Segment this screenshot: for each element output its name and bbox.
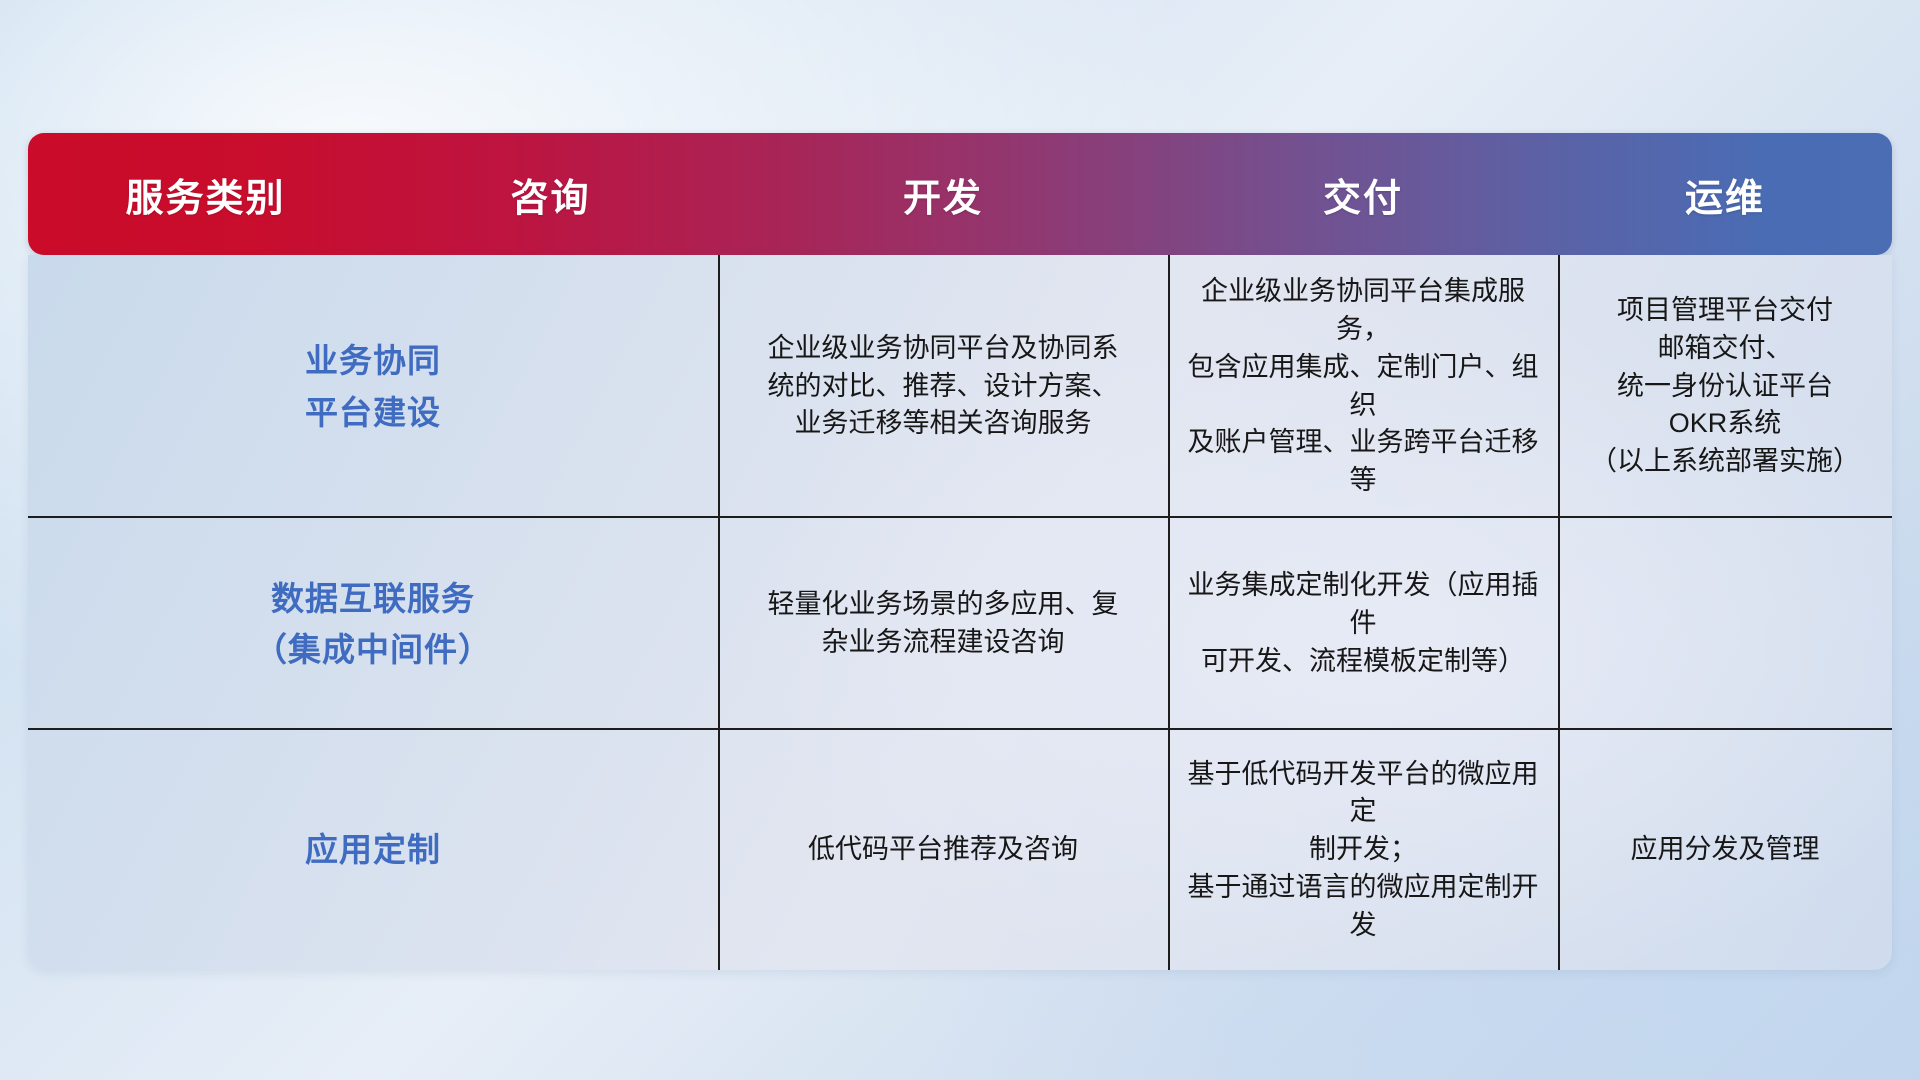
cell-delivery: 项目管理平台交付 邮箱交付、 统一身份认证平台 OKR系统 （以上系统部署实施）	[1558, 255, 1892, 518]
table-row: 业务协同 平台建设 企业级业务协同平台及协同系 统的对比、推荐、设计方案、 业务…	[28, 255, 1892, 518]
cell-development: 企业级业务协同平台集成服务， 包含应用集成、定制门户、组织 及账户管理、业务跨平…	[1168, 255, 1558, 518]
column-header-operations: 运维	[1558, 133, 1892, 255]
cell-category: 业务协同 平台建设	[28, 255, 718, 518]
column-header-consulting: 咨询	[383, 133, 718, 255]
column-header-delivery: 交付	[1168, 133, 1558, 255]
cell-development: 业务集成定制化开发（应用插件 可开发、流程模板定制等）	[1168, 518, 1558, 730]
table-body: 业务协同 平台建设 企业级业务协同平台及协同系 统的对比、推荐、设计方案、 业务…	[28, 255, 1892, 970]
table-row: 应用定制 低代码平台推荐及咨询 基于低代码开发平台的微应用定 制开发； 基于通过…	[28, 730, 1892, 970]
cell-consulting: 轻量化业务场景的多应用、复 杂业务流程建设咨询	[718, 518, 1168, 730]
column-header-development: 开发	[718, 133, 1168, 255]
table-header-row: 服务类别 咨询 开发 交付 运维	[28, 133, 1892, 255]
cell-consulting: 低代码平台推荐及咨询	[718, 730, 1168, 970]
service-category-table: 服务类别 咨询 开发 交付 运维 业务协同 平台建设 企业级业务协同平台及协同系…	[28, 133, 1892, 970]
slide-canvas: 服务类别 咨询 开发 交付 运维 业务协同 平台建设 企业级业务协同平台及协同系…	[0, 0, 1920, 1080]
cell-delivery: 应用分发及管理	[1558, 730, 1892, 970]
cell-consulting: 企业级业务协同平台及协同系 统的对比、推荐、设计方案、 业务迁移等相关咨询服务	[718, 255, 1168, 518]
table-row: 数据互联服务 （集成中间件） 轻量化业务场景的多应用、复 杂业务流程建设咨询 业…	[28, 518, 1892, 730]
cell-category: 数据互联服务 （集成中间件）	[28, 518, 718, 730]
cell-delivery	[1558, 518, 1892, 730]
column-header-category: 服务类别	[28, 133, 383, 255]
cell-development: 基于低代码开发平台的微应用定 制开发； 基于通过语言的微应用定制开发	[1168, 730, 1558, 970]
cell-category: 应用定制	[28, 730, 718, 970]
